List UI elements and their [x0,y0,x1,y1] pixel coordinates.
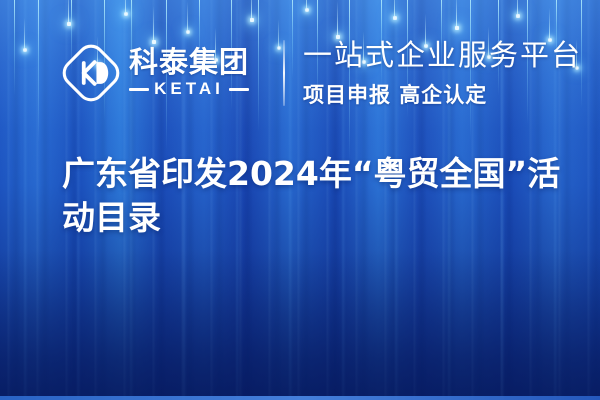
brand-wordmark: 科泰集团 KETAI [129,47,249,99]
brand-name-en: KETAI [154,79,224,99]
tagline-sub: 项目申报 高企认定 [303,79,582,109]
brand-name-en-row: KETAI [129,79,249,99]
tagline-block: 一站式企业服务平台 项目申报 高企认定 [303,38,582,109]
banner-image: 科泰集团 KETAI 一站式企业服务平台 项目申报 高企认定 广东省印发2024… [0,0,600,400]
header-divider [283,40,285,106]
brand-name-cn: 科泰集团 [129,47,249,77]
background-bottom-shade [0,250,600,400]
page-title: 广东省印发2024年“粤贸全国”活动目录 [62,152,582,240]
ketai-diamond-kt-icon [62,44,120,102]
brand-logo[interactable]: 科泰集团 KETAI [62,44,249,102]
dash-right [229,88,249,91]
bottom-accent-strip [0,396,600,400]
banner-header: 科泰集团 KETAI 一站式企业服务平台 项目申报 高企认定 [0,0,600,130]
dash-left [129,88,149,91]
tagline-main: 一站式企业服务平台 [303,38,582,73]
